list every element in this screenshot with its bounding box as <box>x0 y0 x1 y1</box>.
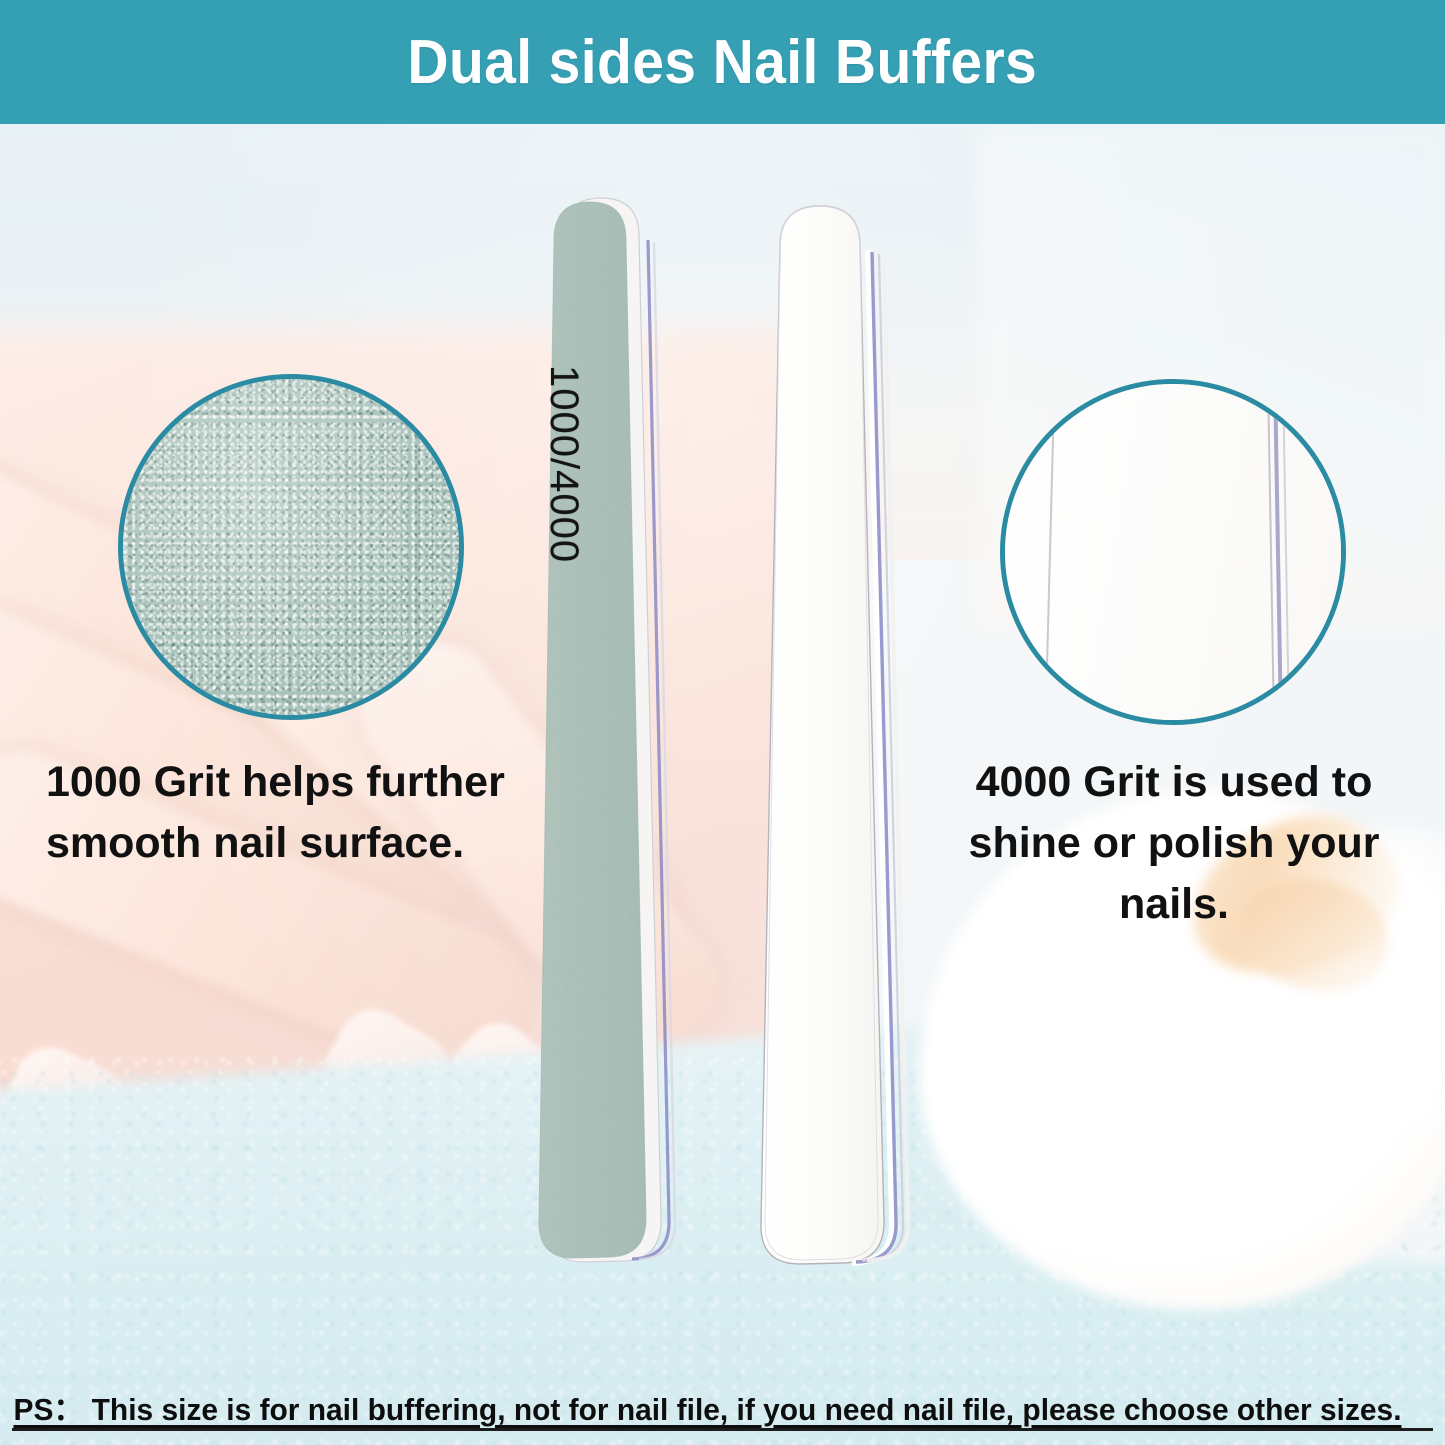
page-title: Dual sides Nail Buffers <box>408 27 1038 98</box>
nail-buffer-white-svg <box>712 202 952 1300</box>
footer-divider <box>12 1428 1433 1431</box>
caption-4000-grit: 4000 Grit is used to shine or polish you… <box>918 752 1430 935</box>
caption-1000-grit: 1000 Grit helps further smooth nail surf… <box>46 752 516 874</box>
zoom-circle-1000-grit <box>118 374 464 720</box>
nail-buffer-green-svg <box>498 196 703 1301</box>
buffer-grit-text: 1000/4000 <box>541 365 586 563</box>
nail-buffer-white <box>712 202 952 1300</box>
grit-sheen-overlay <box>123 379 459 715</box>
nail-buffer-green <box>498 196 703 1301</box>
infographic-canvas: Dual sides Nail Buffers <box>0 0 1445 1445</box>
smooth-surface-fill <box>1005 384 1341 720</box>
header-bar: Dual sides Nail Buffers <box>0 0 1445 124</box>
buffer-body-outer <box>761 206 884 1264</box>
zoom-circle-4000-grit <box>1000 379 1346 725</box>
